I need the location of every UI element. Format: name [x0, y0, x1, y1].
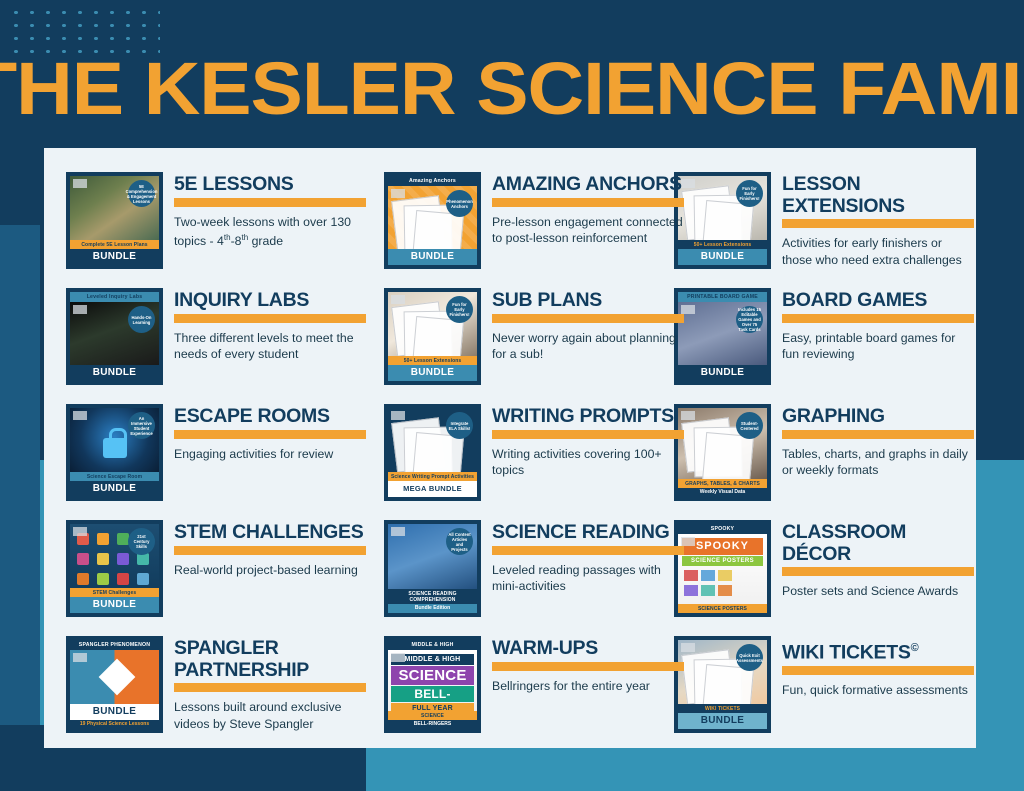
product-title: WRITING PROMPTS	[492, 406, 684, 428]
thumbnail-body: Fun for Early Finishers!	[678, 176, 767, 240]
kesler-logo-icon	[73, 179, 87, 188]
thumbnail-sub-caption: Bundle Edition	[388, 604, 477, 613]
thumbnail-sub-caption: Weekly Visual Data	[678, 488, 767, 497]
thumbnail-badge: Student-Centered	[736, 412, 763, 439]
product-card[interactable]: An Immersive Student ExperienceScience E…	[66, 404, 366, 501]
kesler-logo-icon	[73, 411, 87, 420]
thumbnail-badge: Integrate ELA Skills!	[446, 412, 473, 439]
title-underline-bar	[782, 314, 974, 323]
thumbnail-bundle-label: BUNDLE	[678, 365, 767, 381]
thumbnail-body	[70, 650, 159, 704]
product-card[interactable]: 21st Century SkillsSTEM ChallengesBUNDLE…	[66, 520, 366, 617]
kesler-logo-icon	[73, 653, 87, 662]
thumbnail-inner: 5E Comprehension & Engagement LessonsCom…	[70, 176, 159, 265]
thumbnail-inner: Fun for Early Finishers!50+ Lesson Exten…	[388, 292, 477, 381]
kesler-logo-icon	[391, 653, 405, 662]
stem-icon	[97, 573, 109, 585]
title-underline-bar	[492, 546, 684, 555]
thumbnail-body: Integrate ELA Skills!	[388, 408, 477, 472]
product-thumbnail[interactable]: 21st Century SkillsSTEM ChallengesBUNDLE	[66, 520, 163, 617]
product-card[interactable]: SPANGLER PHENOMENONBUNDLE19 Physical Sci…	[66, 636, 366, 733]
copyright-mark: ©	[911, 642, 919, 654]
product-description: Never worry again about planning for a s…	[492, 330, 684, 363]
product-card[interactable]: Amazing AnchorsPhenomenon AnchorsBUNDLEA…	[384, 172, 684, 269]
product-thumbnail[interactable]: Fun for Early Finishers!50+ Lesson Exten…	[384, 288, 481, 385]
product-text-block: SPANGLER PARTNERSHIPLessons built around…	[174, 636, 366, 732]
stem-icon	[117, 573, 129, 585]
stem-icon	[117, 553, 129, 565]
stem-icon	[77, 553, 89, 565]
thumbnail-bundle-label: BUNDLE	[70, 481, 159, 497]
thumbnail-badge: 21st Century Skills	[128, 528, 155, 555]
thumbnail-bundle-label: BUNDLE	[70, 704, 159, 720]
product-card[interactable]: 5E Comprehension & Engagement LessonsCom…	[66, 172, 366, 269]
product-description: Poster sets and Science Awards	[782, 583, 974, 600]
thumbnail-caption: Science Escape Room	[70, 472, 159, 481]
thumbnail-badge: Hands-On Learning	[128, 306, 155, 333]
product-description: Activities for early finishers or those …	[782, 235, 974, 268]
science-posters-banner: SCIENCE POSTERS	[682, 556, 763, 566]
kesler-logo-icon	[391, 527, 405, 536]
thumbnail-body: An Immersive Student Experience	[70, 408, 159, 472]
title-underline-bar	[492, 430, 684, 439]
thumbnail-badge: Quick Exit Assessments	[736, 644, 763, 671]
thumbnail-body: Student-Centered	[678, 408, 767, 479]
product-card[interactable]: Quick Exit AssessmentsWIKI TICKETSBUNDLE…	[674, 636, 974, 733]
thumbnail-inner: Leveled Inquiry LabsHands-On LearningBUN…	[70, 292, 159, 381]
thumbnail-body: Fun for Early Finishers!	[388, 292, 477, 356]
thumbnail-inner: Amazing AnchorsPhenomenon AnchorsBUNDLE	[388, 176, 477, 265]
thumbnail-caption: 50+ Lesson Extensions	[388, 356, 477, 365]
content-panel: 5E Comprehension & Engagement LessonsCom…	[44, 148, 976, 748]
cover-band: BELL-RINGERS	[391, 686, 474, 702]
product-text-block: SUB PLANSNever worry again about plannin…	[492, 288, 684, 363]
title-underline-bar	[782, 430, 974, 439]
thumbnail-caption: WIKI TICKETS	[678, 704, 767, 713]
thumbnail-inner: Quick Exit AssessmentsWIKI TICKETSBUNDLE	[678, 640, 767, 729]
thumbnail-inner: SPOOKYSPOOKYSCIENCE POSTERSSCIENCE POSTE…	[678, 524, 767, 613]
product-title: GRAPHING	[782, 406, 974, 428]
product-description: Tables, charts, and graphs in daily or w…	[782, 446, 974, 479]
product-text-block: SCIENCE READINGLeveled reading passages …	[492, 520, 684, 595]
thumbnail-caption: 50+ Lesson Extensions	[678, 240, 767, 249]
product-title: STEM CHALLENGES	[174, 522, 366, 544]
stem-icon	[97, 553, 109, 565]
product-text-block: 5E LESSONSTwo-week lessons with over 130…	[174, 172, 366, 250]
thumbnail-body: All Content Articles and Projects	[388, 524, 477, 589]
paper-sheet-icon	[702, 432, 754, 479]
title-underline-bar	[492, 198, 684, 207]
poster-thumb	[684, 570, 698, 581]
product-title: AMAZING ANCHORS	[492, 174, 684, 196]
thumbnail-caption: Science Writing Prompt Activities	[388, 472, 477, 481]
kesler-logo-icon	[391, 411, 405, 420]
thumbnail-badge: Phenomenon Anchors	[446, 190, 473, 217]
product-description: Engaging activities for review	[174, 446, 366, 463]
product-description: Fun, quick formative assessments	[782, 682, 974, 699]
product-thumbnail[interactable]: MIDDLE & HIGHMIDDLE & HIGHSCIENCEBELL-RI…	[384, 636, 481, 733]
thumbnail-body: Hands-On Learning	[70, 302, 159, 365]
thumbnail-top-label: Leveled Inquiry Labs	[70, 292, 159, 302]
title-underline-bar	[492, 662, 684, 671]
thumbnail-caption: SCIENCE	[388, 711, 477, 720]
thumbnail-top-label: PRINTABLE BOARD GAME	[678, 292, 767, 302]
title-underline-bar	[174, 683, 366, 692]
thumbnail-caption: GRAPHS, TABLES, & CHARTS	[678, 479, 767, 488]
thumbnail-bundle-label: BUNDLE	[70, 365, 159, 381]
thumbnail-top-label: SPANGLER PHENOMENON	[70, 640, 159, 650]
product-thumbnail[interactable]: 5E Comprehension & Engagement LessonsCom…	[66, 172, 163, 269]
stem-icon	[137, 573, 149, 585]
product-title: LESSON EXTENSIONS	[782, 174, 974, 217]
thumbnail-body: Phenomenon Anchors	[388, 186, 477, 249]
product-card[interactable]: SPOOKYSPOOKYSCIENCE POSTERSSCIENCE POSTE…	[674, 520, 974, 617]
product-thumbnail[interactable]: SPOOKYSPOOKYSCIENCE POSTERSSCIENCE POSTE…	[674, 520, 771, 617]
kesler-logo-icon	[391, 295, 405, 304]
product-text-block: STEM CHALLENGESReal-world project-based …	[174, 520, 366, 578]
thumbnail-top-label: Amazing Anchors	[388, 176, 477, 186]
poster-thumb	[718, 570, 732, 581]
product-text-block: LESSON EXTENSIONSActivities for early fi…	[782, 172, 974, 268]
thumbnail-bundle-label: BUNDLE	[70, 249, 159, 265]
cover-band: SCIENCE	[391, 666, 474, 685]
thumbnail-badge: All Content Articles and Projects	[446, 528, 473, 555]
poster-thumb	[684, 585, 698, 596]
product-card[interactable]: Student-CenteredGRAPHS, TABLES, & CHARTS…	[674, 404, 974, 501]
product-title: BOARD GAMES	[782, 290, 974, 312]
poster-thumb	[718, 585, 732, 596]
thumbnail-body: Quick Exit Assessments	[678, 640, 767, 704]
thumbnail-body: 5E Comprehension & Engagement Lessons	[70, 176, 159, 240]
kesler-logo-icon	[391, 189, 405, 198]
product-description: Easy, printable board games for fun revi…	[782, 330, 974, 363]
title-underline-bar	[782, 219, 974, 228]
poster-thumb	[701, 570, 715, 581]
product-description: Leveled reading passages with mini-activ…	[492, 562, 684, 595]
product-thumbnail[interactable]: Quick Exit AssessmentsWIKI TICKETSBUNDLE	[674, 636, 771, 733]
title-underline-bar	[492, 314, 684, 323]
product-grid: 5E Comprehension & Engagement LessonsCom…	[44, 148, 976, 748]
product-title: 5E LESSONS	[174, 174, 366, 196]
thumbnail-bundle-label: BUNDLE	[388, 249, 477, 265]
product-title: WIKI TICKETS©	[782, 638, 974, 664]
thumbnail-body: Includes 15 Editable Games and Over 75 T…	[678, 302, 767, 365]
thumbnail-bundle-label: MEGA BUNDLE	[388, 481, 477, 497]
page-title: THE KESLER SCIENCE FAMILY	[0, 52, 1024, 126]
product-card[interactable]: Fun for Early Finishers!50+ Lesson Exten…	[384, 288, 684, 385]
poster-thumb	[701, 585, 715, 596]
product-text-block: WARM-UPSBellringers for the entire year	[492, 636, 684, 694]
product-text-block: AMAZING ANCHORSPre-lesson engagement con…	[492, 172, 684, 247]
product-card[interactable]: MIDDLE & HIGHMIDDLE & HIGHSCIENCEBELL-RI…	[384, 636, 684, 733]
product-description: Lessons built around exclusive videos by…	[174, 699, 366, 732]
product-title: SCIENCE READING	[492, 522, 684, 544]
product-card[interactable]: Fun for Early Finishers!50+ Lesson Exten…	[674, 172, 974, 269]
product-description: Two-week lessons with over 130 topics - …	[174, 214, 366, 250]
background-band-left-blue	[0, 225, 40, 725]
product-description: Writing activities covering 100+ topics	[492, 446, 684, 479]
thumbnail-badge: Fun for Early Finishers!	[446, 296, 473, 323]
product-thumbnail[interactable]: Integrate ELA Skills!Science Writing Pro…	[384, 404, 481, 501]
title-underline-bar	[782, 666, 974, 675]
thumbnail-caption: STEM Challenges	[70, 588, 159, 597]
product-title: INQUIRY LABS	[174, 290, 366, 312]
thumbnail-top-label: MIDDLE & HIGH	[388, 640, 477, 650]
product-card[interactable]: PRINTABLE BOARD GAMEIncludes 15 Editable…	[674, 288, 974, 385]
thumbnail-inner: Student-CenteredGRAPHS, TABLES, & CHARTS…	[678, 408, 767, 497]
product-thumbnail[interactable]: SPANGLER PHENOMENONBUNDLE19 Physical Sci…	[66, 636, 163, 733]
product-description: Bellringers for the entire year	[492, 678, 684, 695]
thumbnail-caption: SCIENCE READING COMPREHENSION	[388, 589, 477, 604]
product-thumbnail[interactable]: Amazing AnchorsPhenomenon AnchorsBUNDLE	[384, 172, 481, 269]
product-card[interactable]: Leveled Inquiry LabsHands-On LearningBUN…	[66, 288, 366, 385]
title-underline-bar	[174, 198, 366, 207]
product-card[interactable]: All Content Articles and ProjectsSCIENCE…	[384, 520, 684, 617]
title-underline-bar	[174, 546, 366, 555]
product-description: Three different levels to meet the needs…	[174, 330, 366, 363]
thumbnail-bundle-label: BUNDLE	[678, 249, 767, 265]
thumbnail-top-label: SPOOKY	[678, 524, 767, 534]
stem-icon	[77, 573, 89, 585]
product-text-block: ESCAPE ROOMSEngaging activities for revi…	[174, 404, 366, 462]
product-thumbnail[interactable]: Fun for Early Finishers!50+ Lesson Exten…	[674, 172, 771, 269]
product-description: Real-world project-based learning	[174, 562, 366, 579]
product-title: SUB PLANS	[492, 290, 684, 312]
kesler-logo-icon	[73, 527, 87, 536]
thumbnail-bundle-label: BUNDLE	[70, 597, 159, 613]
product-text-block: CLASSROOM DÉCORPoster sets and Science A…	[782, 520, 974, 600]
product-text-block: WRITING PROMPTSWriting activities coveri…	[492, 404, 684, 479]
thumbnail-inner: Integrate ELA Skills!Science Writing Pro…	[388, 408, 477, 497]
product-thumbnail[interactable]: All Content Articles and ProjectsSCIENCE…	[384, 520, 481, 617]
thumbnail-body: 21st Century Skills	[70, 524, 159, 588]
thumbnail-inner: 21st Century SkillsSTEM ChallengesBUNDLE	[70, 524, 159, 613]
thumbnail-inner: An Immersive Student ExperienceScience E…	[70, 408, 159, 497]
thumbnail-caption: Complete 5E Lesson Plans	[70, 240, 159, 249]
product-text-block: INQUIRY LABSThree different levels to me…	[174, 288, 366, 363]
product-thumbnail[interactable]: PRINTABLE BOARD GAMEIncludes 15 Editable…	[674, 288, 771, 385]
product-card[interactable]: Integrate ELA Skills!Science Writing Pro…	[384, 404, 684, 501]
thumbnail-sub-caption: 19 Physical Science Lessons	[70, 720, 159, 729]
thumbnail-body: MIDDLE & HIGHSCIENCEBELL-RINGERSFULL YEA…	[388, 650, 477, 711]
product-thumbnail[interactable]: Student-CenteredGRAPHS, TABLES, & CHARTS…	[674, 404, 771, 501]
diamond-icon	[99, 659, 136, 696]
product-text-block: WIKI TICKETS©Fun, quick formative assess…	[782, 636, 974, 699]
thumbnail-badge: Includes 15 Editable Games and Over 75 T…	[736, 306, 763, 333]
thumbnail-badge: Fun for Early Finishers!	[736, 180, 763, 207]
title-underline-bar	[174, 314, 366, 323]
thumbnail-caption: SCIENCE POSTERS	[678, 604, 767, 613]
thumbnail-inner: All Content Articles and ProjectsSCIENCE…	[388, 524, 477, 613]
thumbnail-bundle-label: BUNDLE	[388, 365, 477, 381]
product-title: SPANGLER PARTNERSHIP	[174, 638, 366, 681]
kesler-logo-icon	[73, 305, 87, 314]
title-underline-bar	[174, 430, 366, 439]
thumbnail-body: SPOOKYSCIENCE POSTERS	[678, 534, 767, 604]
product-text-block: BOARD GAMESEasy, printable board games f…	[782, 288, 974, 363]
product-text-block: GRAPHINGTables, charts, and graphs in da…	[782, 404, 974, 479]
thumbnail-badge: An Immersive Student Experience	[128, 412, 155, 439]
thumbnail-inner: MIDDLE & HIGHMIDDLE & HIGHSCIENCEBELL-RI…	[388, 640, 477, 729]
thumbnail-inner: Fun for Early Finishers!50+ Lesson Exten…	[678, 176, 767, 265]
thumbnail-inner: SPANGLER PHENOMENONBUNDLE19 Physical Sci…	[70, 640, 159, 729]
product-description: Pre-lesson engagement connected to post-…	[492, 214, 684, 247]
thumbnail-sub-caption: BELL-RINGERS	[388, 720, 477, 729]
cover-band: FULL YEAR RESOURCE	[391, 703, 474, 711]
thumbnail-inner: PRINTABLE BOARD GAMEIncludes 15 Editable…	[678, 292, 767, 381]
thumbnail-bundle-label: BUNDLE	[678, 713, 767, 729]
stem-icon	[97, 533, 109, 545]
product-thumbnail[interactable]: An Immersive Student ExperienceScience E…	[66, 404, 163, 501]
product-title: ESCAPE ROOMS	[174, 406, 366, 428]
title-underline-bar	[782, 567, 974, 576]
product-title: CLASSROOM DÉCOR	[782, 522, 974, 565]
lock-shackle-icon	[109, 428, 127, 443]
thumbnail-badge: 5E Comprehension & Engagement Lessons	[128, 180, 155, 207]
product-title: WARM-UPS	[492, 638, 684, 660]
product-thumbnail[interactable]: Leveled Inquiry LabsHands-On LearningBUN…	[66, 288, 163, 385]
